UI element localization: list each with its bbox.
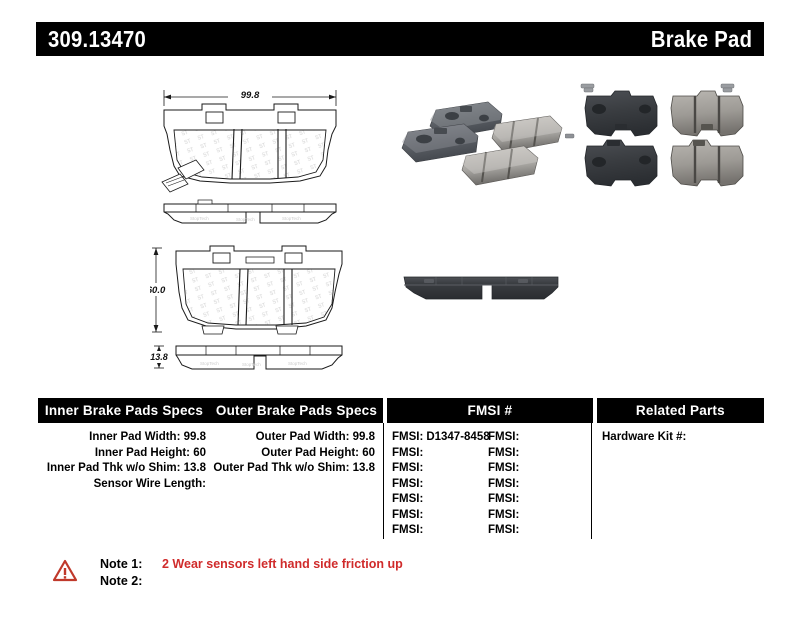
photo-edge-profile-pad [396,265,566,322]
warning-triangle-icon [52,558,78,584]
svg-text:StopTech: StopTech [190,216,209,221]
dimension-label-thickness: 13.8 [150,352,168,362]
column-header-fmsi: FMSI # [387,398,593,423]
fmsi-value [519,462,522,474]
photo-top-down-four-pads [565,76,760,201]
svg-text:StopTech: StopTech [288,361,307,366]
fmsi-value [519,509,522,521]
fmsi-row: FMSI: [488,446,584,462]
fmsi-row: FMSI: [392,508,488,524]
header-group-pad-specs: Inner Brake Pads Specs Outer Brake Pads … [38,398,383,423]
fmsi-row: FMSI: [392,446,488,462]
svg-text:StopTech: StopTech [200,361,219,366]
note-row-2: Note 2: [100,573,403,590]
fmsi-value [519,431,522,443]
column-header-inner-specs: Inner Brake Pads Specs [38,403,210,418]
spec-inner-pad-height: Inner Pad Height: 60 [38,446,206,462]
cell-outer-specs: Outer Pad Width: 99.8 Outer Pad Height: … [210,423,383,539]
drawing-main-pad-face-view: ST 60.0 [150,242,350,343]
fmsi-label: FMSI: [488,524,519,536]
column-header-related-parts: Related Parts [597,398,764,423]
related-hardware-kit: Hardware Kit #: [602,430,760,446]
fmsi-value [423,524,426,536]
cell-inner-specs: Inner Pad Width: 99.8 Inner Pad Height: … [38,423,210,539]
fmsi-row: FMSI: [392,492,488,508]
fmsi-value [423,447,426,459]
fmsi-value [519,493,522,505]
drawing-top-pad-face-view: ST 99.8 [150,82,350,199]
note-2-label: Note 2: [100,573,156,590]
fmsi-label: FMSI: [392,509,423,521]
svg-text:StopTech: StopTech [282,216,301,221]
drawing-lower-edge-view: 13.8 StopTech StopTech StopTech [150,338,350,383]
part-number: 309.13470 [48,26,146,53]
fmsi-label: FMSI: [392,431,423,443]
note-2-value [156,573,162,590]
svg-text:StopTech: StopTech [236,217,255,222]
fmsi-row: FMSI: [488,492,584,508]
fmsi-label: FMSI: [392,462,423,474]
fmsi-row: FMSI: [392,477,488,493]
fmsi-value [423,462,426,474]
spec-outer-pad-height: Outer Pad Height: 60 [210,446,375,462]
specifications-table: Inner Brake Pads Specs Outer Brake Pads … [38,398,764,539]
fmsi-value: D1347-8458 [423,431,489,443]
notes-section: Note 1: 2 Wear sensors left hand side fr… [52,556,403,590]
fmsi-row: FMSI: [392,523,488,539]
fmsi-row: FMSI: [488,477,584,493]
drawing-upper-edge-view: StopTech StopTech StopTech [150,198,350,237]
fmsi-column-right: FMSI: FMSI: FMSI: FMSI: FMSI: FMSI: [488,430,584,539]
fmsi-label: FMSI: [392,493,423,505]
fmsi-value [423,478,426,490]
note-1-label: Note 1: [100,556,156,573]
fmsi-value [519,478,522,490]
spec-inner-pad-thickness: Inner Pad Thk w/o Shim: 13.8 [38,461,206,477]
fmsi-row: FMSI:D1347-8458 [392,430,488,446]
spec-inner-pad-width: Inner Pad Width: 99.8 [38,430,206,446]
fmsi-label: FMSI: [488,431,519,443]
artwork-area: ST 99.8 [0,60,800,390]
fmsi-row: FMSI: [488,523,584,539]
fmsi-label: FMSI: [488,509,519,521]
notes-text-block: Note 1: 2 Wear sensors left hand side fr… [100,556,403,590]
fmsi-label: FMSI: [488,478,519,490]
spec-outer-pad-width: Outer Pad Width: 99.8 [210,430,375,446]
fmsi-value [519,524,522,536]
fmsi-label: FMSI: [488,447,519,459]
dimension-label-width: 99.8 [241,90,260,101]
table-body-row: Inner Pad Width: 99.8 Inner Pad Height: … [38,423,764,539]
fmsi-label: FMSI: [488,462,519,474]
fmsi-row: FMSI: [488,508,584,524]
column-header-outer-specs: Outer Brake Pads Specs [210,403,383,418]
fmsi-label: FMSI: [392,478,423,490]
fmsi-row: FMSI: [488,430,584,446]
note-row-1: Note 1: 2 Wear sensors left hand side fr… [100,556,403,573]
fmsi-value [423,493,426,505]
header-bar: 309.13470 Brake Pad [36,22,764,56]
photo-angled-four-pads [392,80,567,200]
fmsi-row: FMSI: [488,461,584,477]
spec-outer-pad-thickness: Outer Pad Thk w/o Shim: 13.8 [210,461,375,477]
fmsi-label: FMSI: [392,524,423,536]
table-header-row: Inner Brake Pads Specs Outer Brake Pads … [38,398,764,423]
cell-fmsi-numbers: FMSI:D1347-8458 FMSI: FMSI: FMSI: FMSI: … [383,423,591,539]
spec-sensor-wire-length: Sensor Wire Length: [38,477,206,493]
fmsi-value [423,509,426,521]
fmsi-column-left: FMSI:D1347-8458 FMSI: FMSI: FMSI: FMSI: … [392,430,488,539]
cell-related-parts: Hardware Kit #: [591,423,760,539]
fmsi-label: FMSI: [392,447,423,459]
fmsi-value [519,447,522,459]
note-1-value: 2 Wear sensors left hand side friction u… [156,556,403,573]
fmsi-row: FMSI: [392,461,488,477]
page-title: Brake Pad [651,26,752,53]
fmsi-label: FMSI: [488,493,519,505]
svg-text:StopTech: StopTech [242,362,261,367]
dimension-label-height: 60.0 [150,285,166,296]
